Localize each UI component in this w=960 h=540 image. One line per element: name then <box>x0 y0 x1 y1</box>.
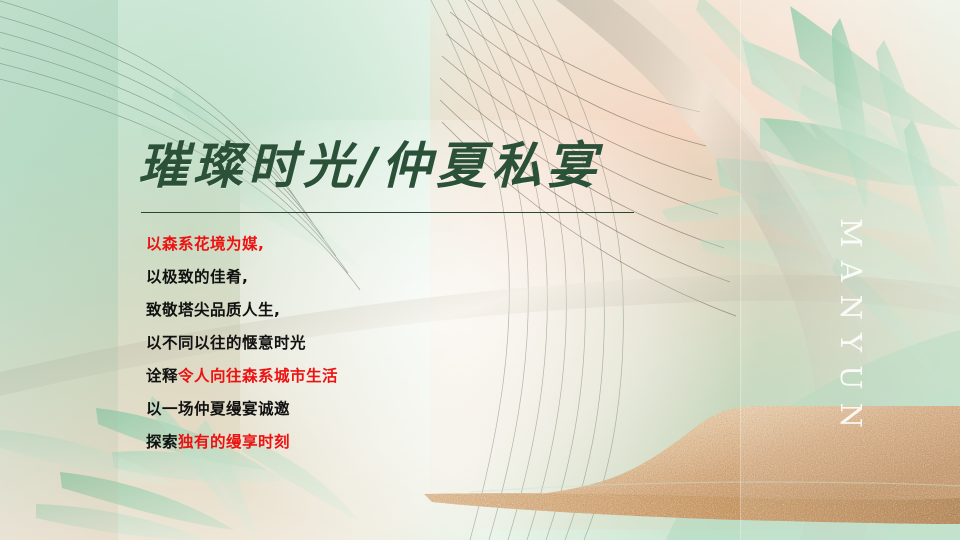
body-copy-line: 探索独有的缦享时刻 <box>146 426 566 459</box>
body-copy-segment: 以不同以往的惬意时光 <box>146 334 306 352</box>
body-copy-accent-segment: 以森系花境为媒, <box>146 235 264 253</box>
body-copy-line: 以森系花境为媒, <box>146 228 566 261</box>
body-copy-segment: 以一场仲夏缦宴诚邀 <box>146 400 290 418</box>
body-copy-line: 致敬塔尖品质人生, <box>146 294 566 327</box>
body-copy-segment: 诠释 <box>146 367 178 385</box>
body-copy-accent-segment: 令人向往森系城市生活 <box>178 367 338 385</box>
brand-watermark: MANYUN <box>834 218 868 518</box>
body-copy-line: 以极致的佳肴, <box>146 261 566 294</box>
body-copy-block: 以森系花境为媒,以极致的佳肴,致敬塔尖品质人生,以不同以往的惬意时光诠释令人向往… <box>146 228 566 459</box>
slide-canvas: 璀璨时光/仲夏私宴 以森系花境为媒,以极致的佳肴,致敬塔尖品质人生,以不同以往的… <box>0 0 960 540</box>
body-copy-line: 以不同以往的惬意时光 <box>146 327 566 360</box>
body-copy-line: 以一场仲夏缦宴诚邀 <box>146 393 566 426</box>
body-copy-accent-segment: 独有的缦享时刻 <box>178 433 290 451</box>
body-copy-segment: 以极致的佳肴, <box>146 268 248 286</box>
body-copy-segment: 致敬塔尖品质人生, <box>146 301 280 319</box>
page-title: 璀璨时光/仲夏私宴 <box>138 126 601 198</box>
left-panel-band <box>0 0 118 540</box>
body-copy-segment: 探索 <box>146 433 178 451</box>
title-divider <box>141 212 634 213</box>
body-copy-line: 诠释令人向往森系城市生活 <box>146 360 566 393</box>
